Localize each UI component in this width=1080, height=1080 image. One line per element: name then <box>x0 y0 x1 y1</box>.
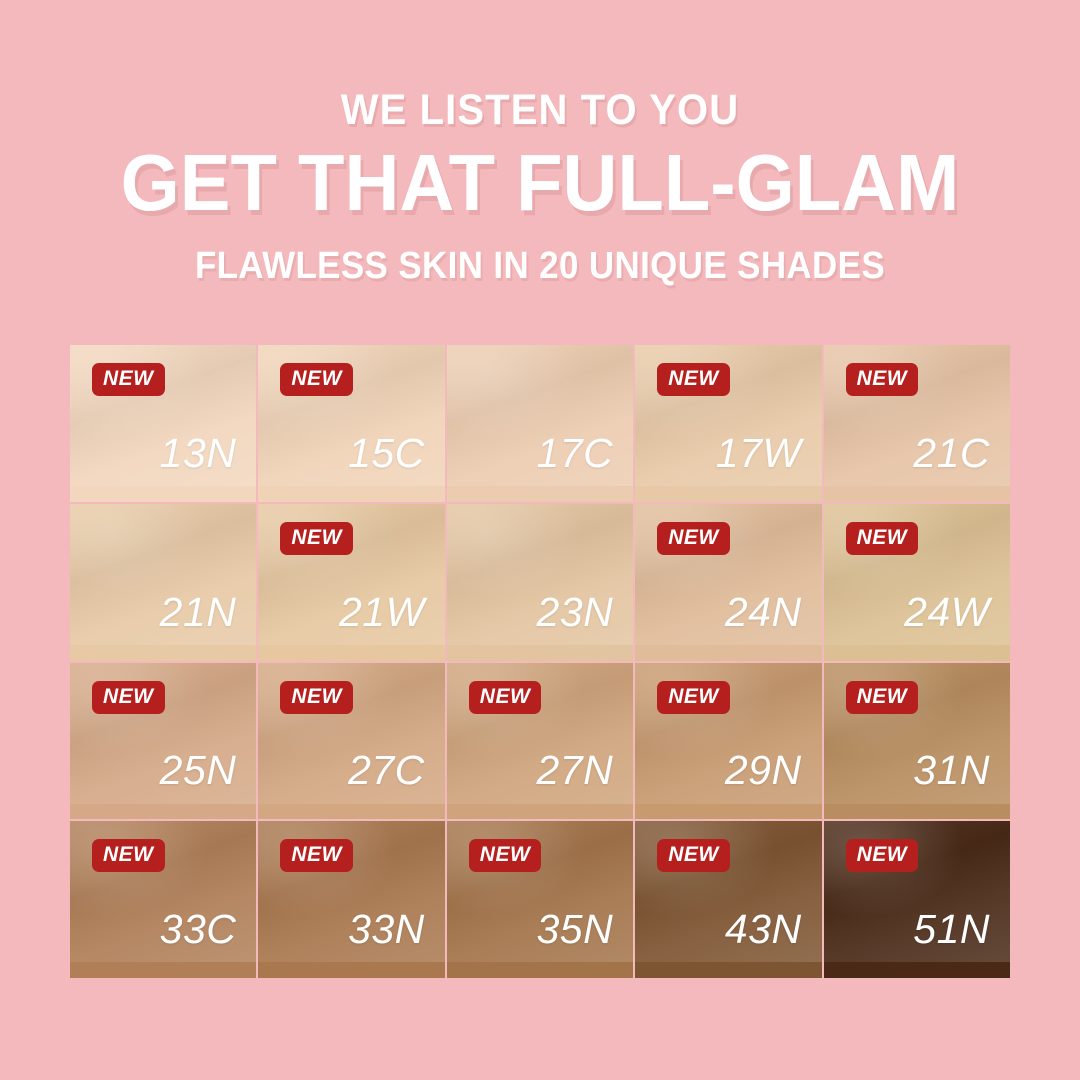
shade-code-label: 27N <box>536 750 613 791</box>
new-badge: NEW <box>280 839 353 872</box>
new-badge: NEW <box>846 839 919 872</box>
new-badge: NEW <box>657 363 730 396</box>
shade-code-label: 13N <box>160 433 237 474</box>
shade-code-label: 21C <box>913 433 990 474</box>
shade-code-label: 21W <box>339 592 425 633</box>
new-badge: NEW <box>657 681 730 714</box>
shade-code-label: 43N <box>725 909 802 950</box>
shade-swatch[interactable]: NEW27N <box>447 663 633 820</box>
new-badge: NEW <box>657 839 730 872</box>
shade-swatch[interactable]: NEW43N <box>635 821 821 978</box>
eyebrow-text: WE LISTEN TO YOU <box>38 88 1042 133</box>
shade-code-label: 17C <box>536 433 613 474</box>
shade-swatch[interactable]: NEW24W <box>824 504 1010 661</box>
shade-swatch[interactable]: NEW35N <box>447 821 633 978</box>
shade-swatch[interactable]: 21N <box>70 504 256 661</box>
shade-swatch[interactable]: NEW31N <box>824 663 1010 820</box>
shade-swatch[interactable]: 23N <box>447 504 633 661</box>
shade-swatch[interactable]: NEW51N <box>824 821 1010 978</box>
new-badge: NEW <box>280 681 353 714</box>
header-block: WE LISTEN TO YOU GET THAT FULL-GLAM FLAW… <box>0 0 1080 287</box>
new-badge: NEW <box>846 522 919 555</box>
shade-code-label: 27C <box>348 750 425 791</box>
shade-code-label: 23N <box>536 592 613 633</box>
shade-code-label: 51N <box>913 909 990 950</box>
shade-code-label: 17W <box>716 433 802 474</box>
shade-code-label: 33C <box>160 909 237 950</box>
shade-swatch[interactable]: NEW24N <box>635 504 821 661</box>
new-badge: NEW <box>657 522 730 555</box>
shade-swatch[interactable]: NEW21C <box>824 345 1010 502</box>
new-badge: NEW <box>846 363 919 396</box>
shade-swatch[interactable]: NEW17W <box>635 345 821 502</box>
new-badge: NEW <box>92 839 165 872</box>
shade-swatch[interactable]: NEW25N <box>70 663 256 820</box>
shade-swatch-grid: NEW13NNEW15C17CNEW17WNEW21C21NNEW21W23NN… <box>70 345 1010 978</box>
shade-code-label: 21N <box>160 592 237 633</box>
shade-code-label: 15C <box>348 433 425 474</box>
new-badge: NEW <box>280 522 353 555</box>
shade-code-label: 24N <box>725 592 802 633</box>
shade-code-label: 33N <box>348 909 425 950</box>
subheadline-text: FLAWLESS SKIN IN 20 UNIQUE SHADES <box>43 247 1037 287</box>
shade-swatch[interactable]: NEW15C <box>258 345 444 502</box>
new-badge: NEW <box>469 839 542 872</box>
new-badge: NEW <box>92 363 165 396</box>
shade-swatch[interactable]: NEW21W <box>258 504 444 661</box>
shade-swatch[interactable]: NEW33C <box>70 821 256 978</box>
shade-swatch[interactable]: NEW33N <box>258 821 444 978</box>
new-badge: NEW <box>846 681 919 714</box>
shade-code-label: 24W <box>904 592 990 633</box>
new-badge: NEW <box>92 681 165 714</box>
shade-swatch[interactable]: 17C <box>447 345 633 502</box>
new-badge: NEW <box>469 681 542 714</box>
shade-code-label: 25N <box>160 750 237 791</box>
shade-code-label: 35N <box>536 909 613 950</box>
new-badge: NEW <box>280 363 353 396</box>
shade-swatch[interactable]: NEW13N <box>70 345 256 502</box>
shade-swatch[interactable]: NEW27C <box>258 663 444 820</box>
shade-code-label: 29N <box>725 750 802 791</box>
page-title: GET THAT FULL-GLAM <box>27 143 1053 223</box>
shade-code-label: 31N <box>913 750 990 791</box>
shade-swatch[interactable]: NEW29N <box>635 663 821 820</box>
